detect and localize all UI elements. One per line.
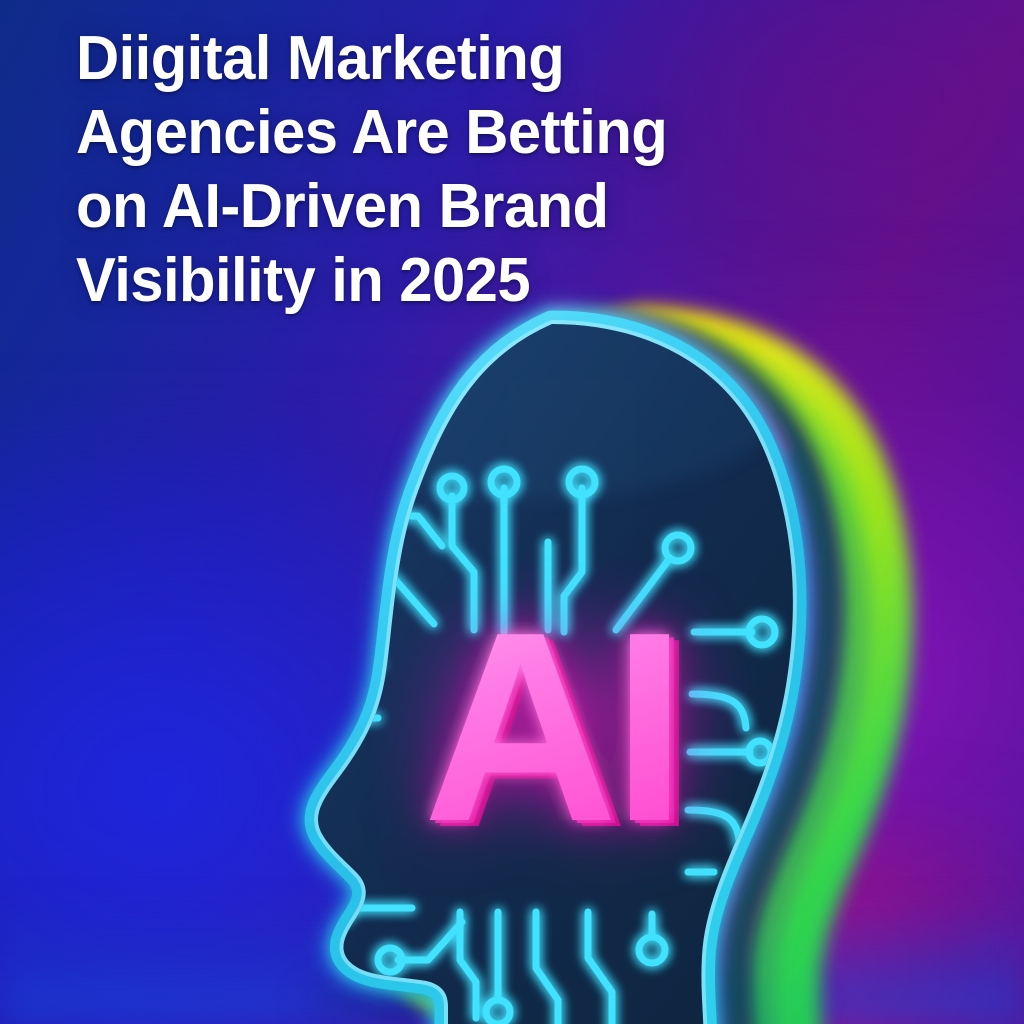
- ai-monogram: AI AI AI AI: [423, 577, 691, 884]
- trace-node-left-2: [336, 564, 360, 588]
- ai-monogram-face: AI: [423, 577, 681, 878]
- ai-head-graphic: AI AI AI AI: [252, 300, 932, 1024]
- headline-line-1: Diigital Marketing: [76, 22, 752, 96]
- trace-node-left-1: [344, 504, 368, 528]
- headline: Diigital Marketing Agencies Are Betting …: [76, 22, 776, 318]
- headline-line-3: on AI-Driven Brand: [76, 170, 752, 244]
- trace-node-left-4: [300, 706, 324, 730]
- social-graphic-canvas: AI AI AI AI Diigital Marketing Agencies …: [0, 0, 1024, 1024]
- headline-line-2: Agencies Are Betting: [76, 96, 752, 170]
- trace-node-left-3: [300, 652, 324, 676]
- headline-line-4: Visibility in 2025: [76, 244, 752, 318]
